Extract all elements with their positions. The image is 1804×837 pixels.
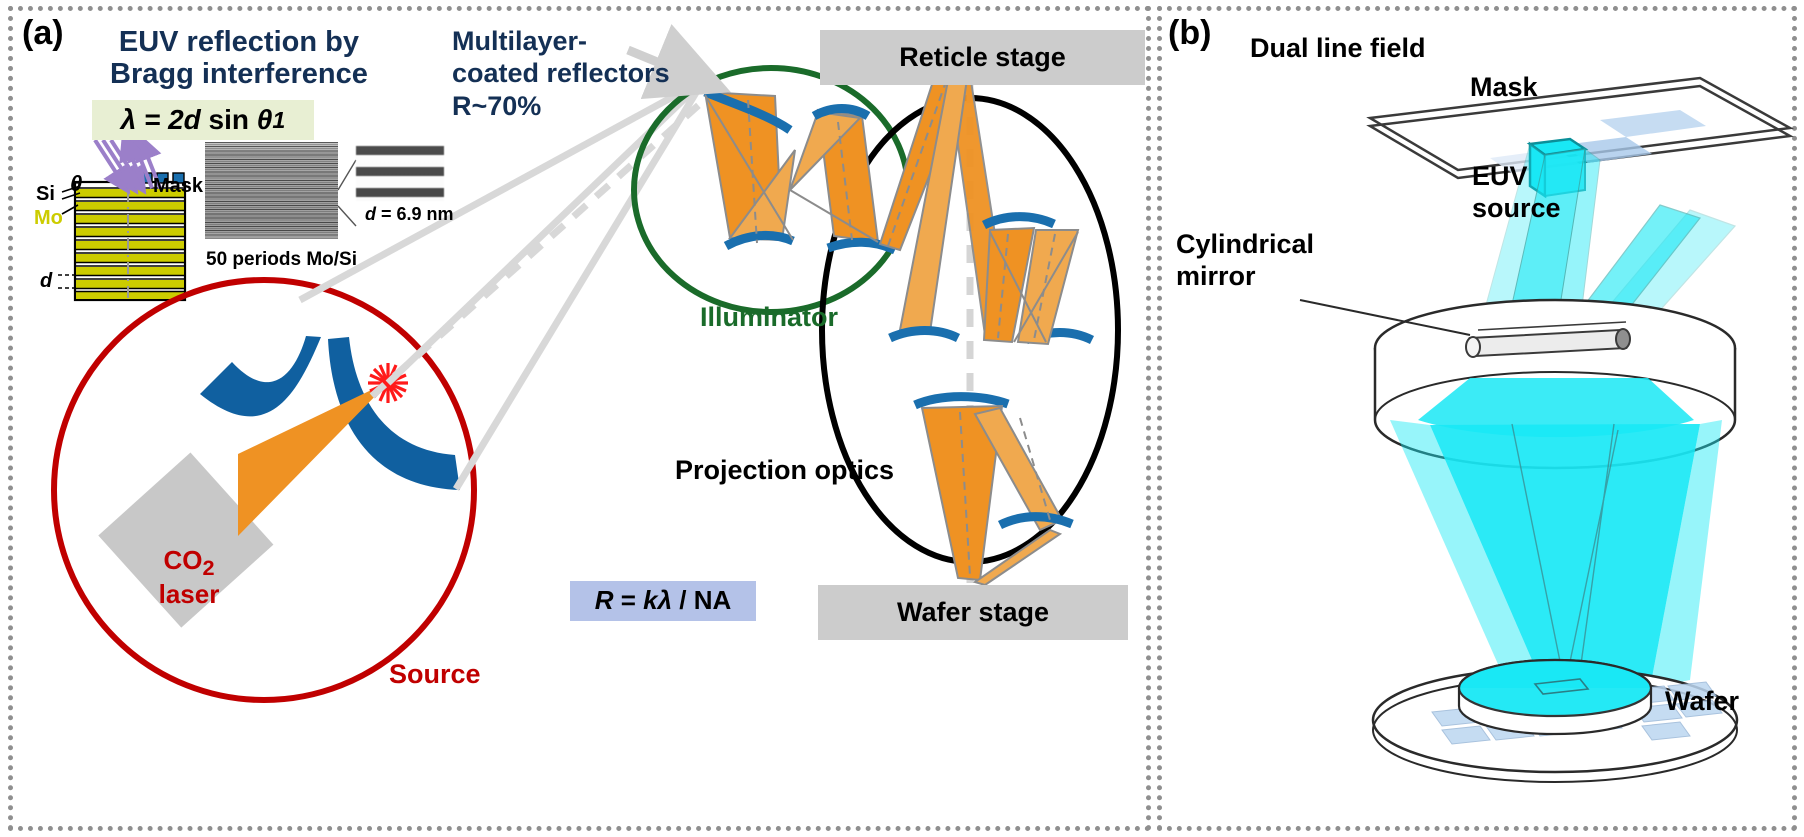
cylindrical-mirror-label: Cylindrical mirror xyxy=(1176,228,1314,293)
si-layer-label: Si xyxy=(36,183,55,205)
reticle-stage-label: Reticle stage xyxy=(820,30,1145,85)
bragg-sub: 1 xyxy=(272,107,285,133)
collector-mirror-upper xyxy=(200,336,321,416)
illuminator-label: Illuminator xyxy=(700,302,838,332)
euv-source-label: EUV source xyxy=(1472,160,1561,225)
tem-caption: 50 periods Mo/Si xyxy=(206,249,357,270)
multilayer-reflectors-note: Multilayer- coated reflectors R~70% xyxy=(452,25,670,122)
panel-a-title: EUV reflection by Bragg interference xyxy=(110,26,368,91)
period-label: d xyxy=(40,270,52,292)
panel-b-tag: (b) xyxy=(1168,14,1211,52)
resolution-eq: = xyxy=(613,586,643,615)
dual-line-field-label: Dual line field xyxy=(1250,33,1426,63)
bragg-theta: θ xyxy=(257,104,273,135)
wafer-label: Wafer xyxy=(1665,686,1739,716)
resolution-klambda: kλ xyxy=(643,586,672,615)
mask-label-a: Mask xyxy=(153,175,203,197)
tem-micrograph-multilayer xyxy=(205,142,338,239)
panel-a-tag: (a) xyxy=(22,14,64,52)
figure-root: (a) (b) EUV reflection by Bragg interfer… xyxy=(0,0,1804,837)
resolution-na: / NA xyxy=(672,586,731,615)
source-label: Source xyxy=(389,659,481,689)
bragg-lhs: λ = 2 xyxy=(121,104,184,135)
co2-laser-label: CO2laser xyxy=(144,546,234,610)
bragg-d: d xyxy=(184,104,201,135)
mo-layer-label: Mo xyxy=(34,207,63,229)
tem-period-value: d = 6.9 nm xyxy=(365,204,454,224)
tem-callout-lines xyxy=(338,160,356,226)
incidence-angle-label: θ xyxy=(70,172,82,197)
mask-label-b: Mask xyxy=(1470,72,1538,102)
bragg-formula-box: λ = 2d sin θ1 xyxy=(92,100,314,140)
resolution-r: R xyxy=(595,586,614,615)
projection-optics-label: Projection optics xyxy=(675,455,894,485)
resolution-formula-box: R = kλ / NA xyxy=(570,581,756,621)
tem-micrograph-zoom-inset xyxy=(356,146,444,201)
period-bracket xyxy=(58,275,76,288)
bragg-sin: sin xyxy=(201,104,257,135)
wafer-stage-label: Wafer stage xyxy=(818,585,1128,640)
